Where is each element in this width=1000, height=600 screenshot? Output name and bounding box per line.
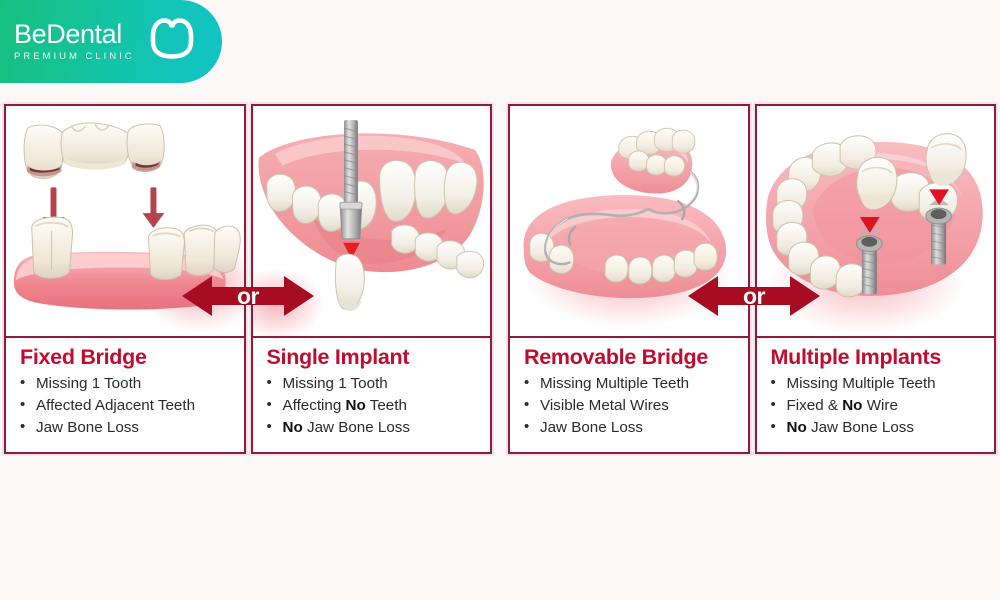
card-body: Fixed Bridge Missing 1 Tooth Affected Ad… [6, 338, 244, 452]
feature-list: Missing Multiple Teeth Fixed & No Wire N… [765, 373, 989, 440]
feature-list: Missing 1 Tooth Affecting No Teeth No Ja… [261, 373, 485, 440]
list-item: No Jaw Bone Loss [765, 417, 989, 439]
list-item: Missing 1 Tooth [14, 373, 238, 395]
list-item: Visible Metal Wires [518, 395, 742, 417]
feature-list: Missing Multiple Teeth Visible Metal Wir… [518, 373, 742, 440]
card-multiple-implants[interactable]: Multiple Implants Missing Multiple Teeth… [755, 104, 997, 454]
card-single-implant[interactable]: Single Implant Missing 1 Tooth Affecting… [251, 104, 493, 454]
brand-wordmark: BeDental PREMIUM CLINIC [14, 21, 135, 62]
single-implant-illustration [253, 106, 491, 338]
feature-list: Missing 1 Tooth Affected Adjacent Teeth … [14, 373, 238, 440]
option-pair-multiple-teeth: Removable Bridge Missing Multiple Teeth … [508, 104, 996, 454]
list-item: Affecting No Teeth [261, 395, 485, 417]
fixed-bridge-illustration [6, 106, 244, 338]
tooth-icon [146, 15, 198, 66]
infographic-root: BeDental PREMIUM CLINIC [0, 0, 1000, 600]
pair-spacer [492, 104, 508, 454]
list-item: Fixed & No Wire [765, 395, 989, 417]
option-pair-single-tooth: Fixed Bridge Missing 1 Tooth Affected Ad… [4, 104, 492, 454]
list-item: Missing Multiple Teeth [765, 373, 989, 395]
card-title: Removable Bridge [524, 346, 742, 369]
card-fixed-bridge[interactable]: Fixed Bridge Missing 1 Tooth Affected Ad… [4, 104, 246, 454]
card-title: Fixed Bridge [20, 346, 238, 369]
list-item: Jaw Bone Loss [14, 417, 238, 439]
options-grid: Fixed Bridge Missing 1 Tooth Affected Ad… [4, 104, 996, 454]
list-item: No Jaw Bone Loss [261, 417, 485, 439]
list-item: Affected Adjacent Teeth [14, 395, 238, 417]
card-body: Removable Bridge Missing Multiple Teeth … [510, 338, 748, 452]
card-title: Single Implant [267, 346, 485, 369]
list-item: Missing Multiple Teeth [518, 373, 742, 395]
card-body: Single Implant Missing 1 Tooth Affecting… [253, 338, 491, 452]
list-item: Jaw Bone Loss [518, 417, 742, 439]
brand-logo-bar: BeDental PREMIUM CLINIC [0, 0, 222, 83]
card-removable-bridge[interactable]: Removable Bridge Missing Multiple Teeth … [508, 104, 750, 454]
brand-tagline: PREMIUM CLINIC [14, 52, 135, 62]
multiple-implants-illustration [757, 106, 995, 338]
card-body: Multiple Implants Missing Multiple Teeth… [757, 338, 995, 452]
list-item: Missing 1 Tooth [261, 373, 485, 395]
card-title: Multiple Implants [771, 346, 989, 369]
removable-bridge-illustration [510, 106, 748, 338]
brand-name: BeDental [14, 21, 135, 48]
